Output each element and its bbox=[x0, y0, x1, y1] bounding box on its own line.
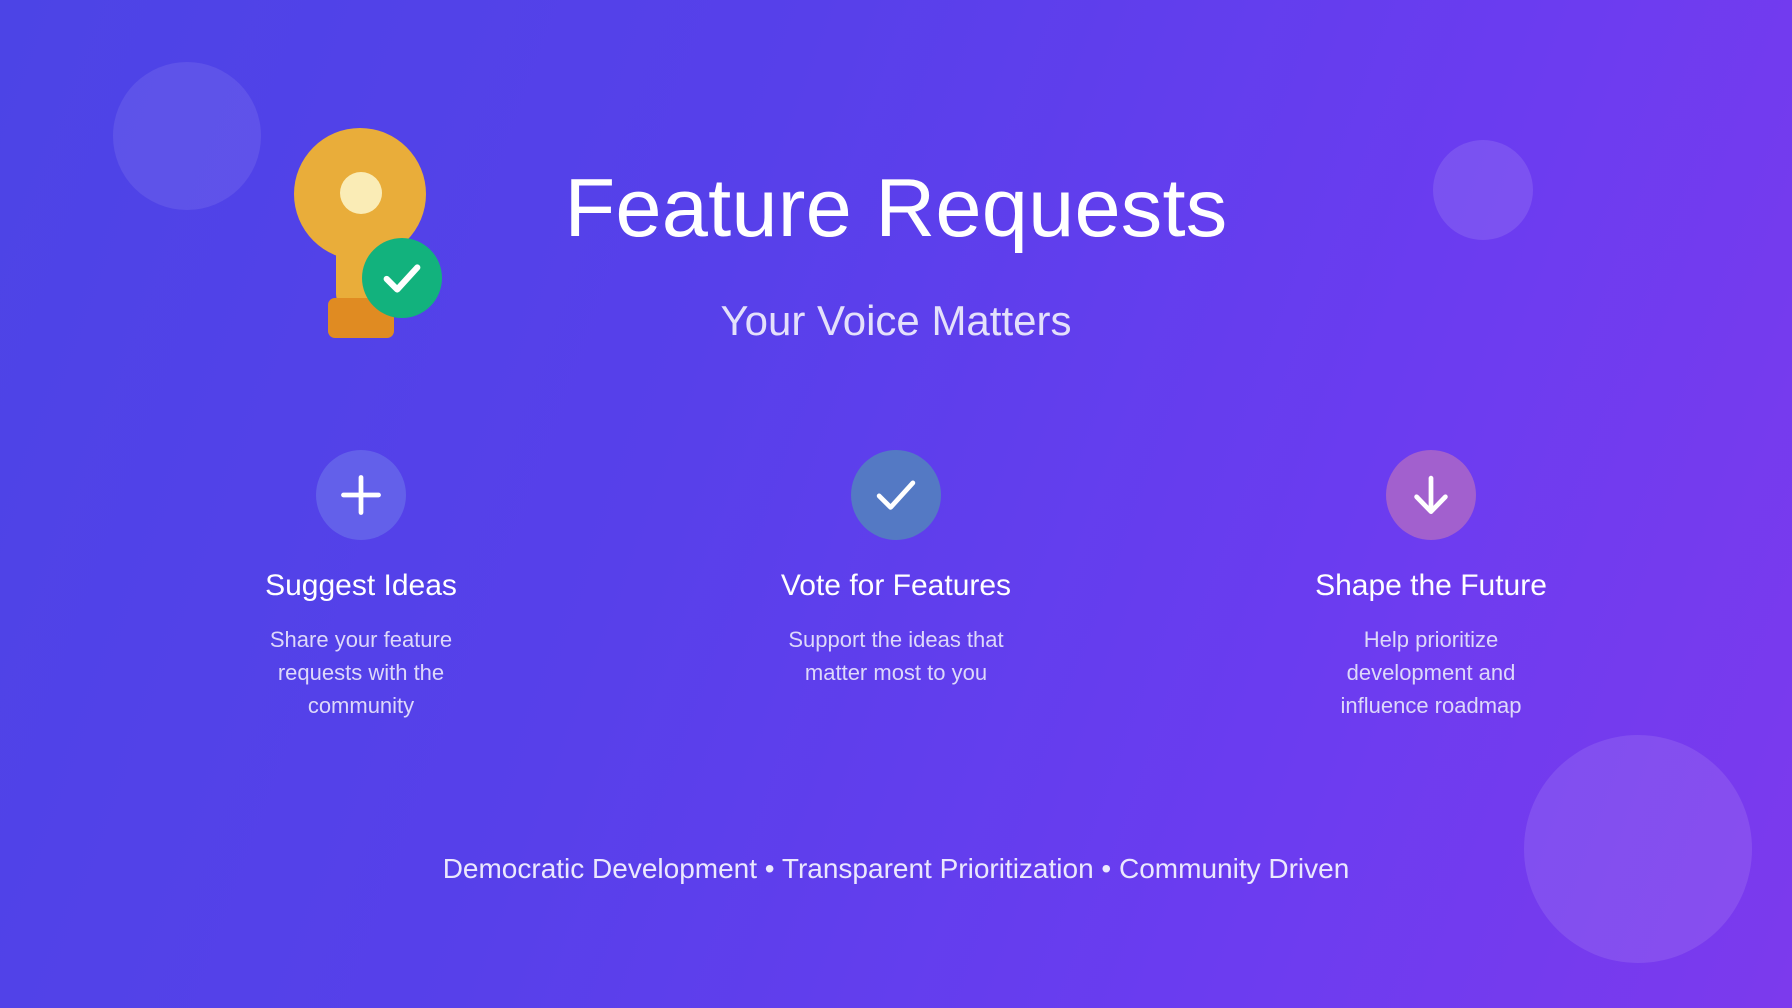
check-icon bbox=[851, 450, 941, 540]
arrow-down-icon bbox=[1386, 450, 1476, 540]
footer-tagline: Democratic Development • Transparent Pri… bbox=[0, 855, 1792, 883]
feature-card-vote-for-features: Vote for Features Support the ideas that… bbox=[731, 450, 1061, 722]
feature-title: Shape the Future bbox=[1315, 571, 1547, 601]
decorative-circle-bottom-right bbox=[1524, 735, 1752, 963]
page-title: Feature Requests bbox=[0, 166, 1792, 249]
feature-description: Share your feature requests with the com… bbox=[231, 623, 491, 722]
feature-title: Vote for Features bbox=[781, 571, 1011, 601]
feature-title: Suggest Ideas bbox=[265, 571, 457, 601]
plus-icon bbox=[316, 450, 406, 540]
feature-list: Suggest Ideas Share your feature request… bbox=[196, 450, 1596, 722]
feature-card-shape-the-future: Shape the Future Help prioritize develop… bbox=[1266, 450, 1596, 722]
feature-card-suggest-ideas: Suggest Ideas Share your feature request… bbox=[196, 450, 526, 722]
page-subtitle: Your Voice Matters bbox=[0, 300, 1792, 342]
feature-description: Help prioritize development and influenc… bbox=[1301, 623, 1561, 722]
feature-description: Support the ideas that matter most to yo… bbox=[766, 623, 1026, 689]
feature-requests-slide: Feature Requests Your Voice Matters Sugg… bbox=[0, 0, 1792, 1008]
